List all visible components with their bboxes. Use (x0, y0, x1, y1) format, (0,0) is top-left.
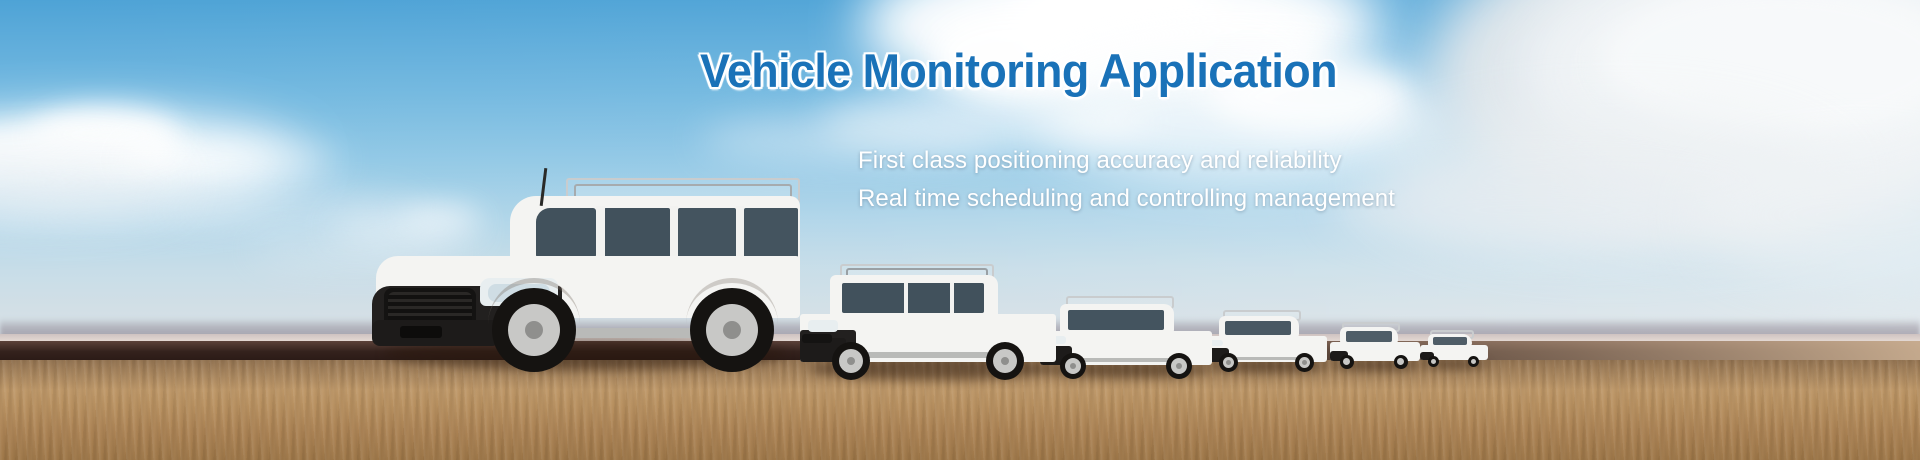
vehicle-1-lead (370, 178, 800, 368)
hero-banner: Vehicle Monitoring Application First cla… (0, 0, 1920, 460)
vehicle-6 (1420, 330, 1490, 368)
page-title: Vehicle Monitoring Application (700, 44, 1560, 98)
subtitle-line-1: First class positioning accuracy and rel… (858, 146, 1618, 176)
vehicle-4 (1205, 310, 1330, 372)
vehicle-2 (800, 264, 1060, 376)
vehicle-5 (1330, 322, 1422, 370)
subtitle-line-2: Real time scheduling and controlling man… (858, 184, 1618, 214)
vehicle-3 (1040, 296, 1215, 376)
